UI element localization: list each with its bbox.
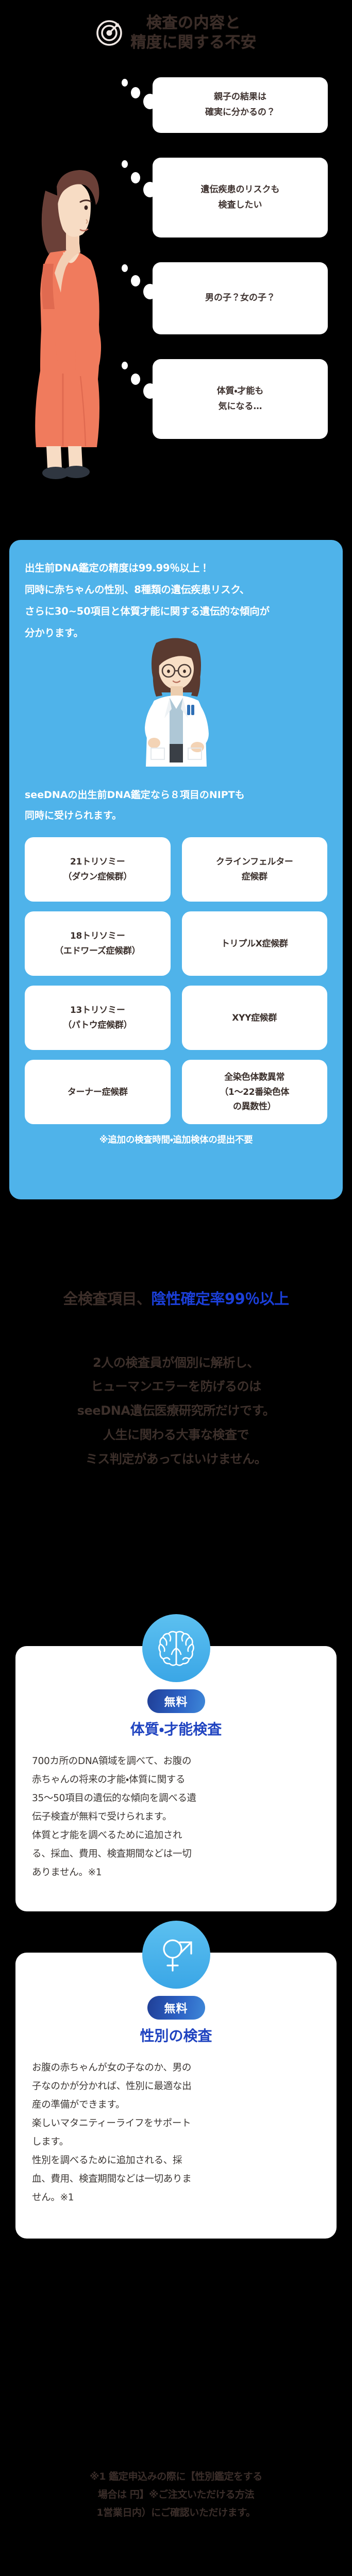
- accuracy-headline-highlight: 陰性確定率99％以上: [151, 1290, 289, 1308]
- page-root: 検査の内容と 精度に関する不安: [0, 0, 352, 2576]
- footer-line1: ※1 鑑定申込みの際に【性別鑑定をする: [15, 2468, 337, 2486]
- card1-body-line2: 赤ちゃんの将来の才能・体質に関する: [32, 1771, 320, 1789]
- nipt-item: 全染色体数異常（1〜22番染色体の異数性）: [182, 1060, 328, 1124]
- page-title: 検査の内容と 精度に関する不安: [131, 13, 257, 53]
- nipt-item: XYY症候群: [182, 986, 328, 1050]
- gender-icon-circle: [142, 1921, 210, 1989]
- bubble-dot-medium: [131, 87, 140, 98]
- bubble-dot-large: [143, 284, 157, 299]
- accuracy-body-line5: ミス判定があってはいけません。: [18, 1447, 334, 1471]
- nipt-info-panel: 出生前DNA鑑定の精度は99.99％以上！ 同時に赤ちゃんの性別、8種類の遺伝疾…: [9, 540, 343, 1199]
- nipt-sub-line1: seeDNAの出生前DNA鑑定なら８項目のNIPTも: [25, 785, 327, 806]
- thought-bubble-4: 体質・才能も 気になる…: [153, 359, 328, 439]
- bubble-dot-medium: [131, 172, 140, 183]
- card1-body-line1: 700カ所のDNA領域を調べて、お腹の: [32, 1752, 320, 1771]
- accuracy-body-line4: 人生に関わる大事な検査で: [18, 1423, 334, 1447]
- bubble-dot-large: [143, 182, 157, 197]
- accuracy-headline: 全検査項目、陰性確定率99％以上: [18, 1288, 334, 1311]
- bubble-4-line1: 体質・才能も: [217, 386, 264, 396]
- card2-body-line2: 子なのかが分かれば、性別に最適な出: [32, 2077, 320, 2096]
- nipt-footnote: ※追加の検査時間・追加検体の提出不要: [25, 1133, 327, 1146]
- nipt-lead-line2: 同時に赤ちゃんの性別、8種類の遺伝疾患リスク、: [25, 579, 327, 601]
- doctor-illustration: [122, 632, 230, 781]
- page-title-line1: 検査の内容と: [131, 13, 257, 33]
- nipt-item-label: ターナー症候群: [68, 1085, 128, 1100]
- thought-bubble-1-text: 親子の結果は 確実に分かるの？: [205, 90, 275, 121]
- nipt-item-label: トリプルX症候群: [221, 937, 288, 952]
- card1-body-line4: 伝子検査が無料で受けられます。: [32, 1808, 320, 1826]
- bubble-dot-large: [143, 94, 157, 109]
- nipt-item: 13トリソミー（パトウ症候群）: [25, 986, 171, 1050]
- card2-body-line5: します。: [32, 2133, 320, 2151]
- nipt-item: トリプルX症候群: [182, 911, 328, 976]
- bubble-3-line1: 男の子？女の子？: [205, 293, 275, 303]
- accuracy-body-line2: ヒューマンエラーを防げるのは: [18, 1375, 334, 1399]
- card1-body-line5: 体質と才能を調べるために追加され: [32, 1826, 320, 1845]
- section-accuracy: 全検査項目、陰性確定率99％以上 2人の検査員が個別に解析し、 ヒューマンエラー…: [0, 1288, 352, 1471]
- bubble-1-line1: 親子の結果は: [214, 92, 266, 102]
- card2-body-line8: せん。※1: [32, 2189, 320, 2207]
- thought-bubble-3-text: 男の子？女の子？: [205, 291, 275, 306]
- bubble-2-line1: 遺伝疾患のリスクも: [201, 184, 280, 195]
- accuracy-body-line3: seeDNA遺伝医療研究所だけです。: [18, 1399, 334, 1423]
- thought-bubble-4-text: 体質・才能も 気になる…: [217, 384, 264, 415]
- nipt-item-label: クラインフェルター症候群: [216, 855, 293, 885]
- bubble-dot-small: [122, 160, 128, 168]
- feature-card-body: 700カ所のDNA領域を調べて、お腹の 赤ちゃんの将来の才能・体質に関する 35…: [32, 1752, 320, 1882]
- thought-bubble-2: 遺伝疾患のリスクも 検査したい: [153, 158, 328, 238]
- brain-icon: [156, 1628, 196, 1669]
- feature-card-title: 性別の検査: [32, 2025, 320, 2045]
- card2-body-line4: 楽しいマタニティーライフをサポート: [32, 2114, 320, 2133]
- bubble-1-line2: 確実に分かるの？: [205, 107, 275, 117]
- nipt-item-grid: 21トリソミー（ダウン症候群） クラインフェルター症候群 18トリソミー（エドワ…: [25, 837, 327, 1124]
- card2-body-line7: 血、費用、検査期間などは一切ありま: [32, 2170, 320, 2189]
- footer-line3: 1営業日内）にご確認いただけます。: [15, 2504, 337, 2522]
- bubble-dot-large: [143, 383, 157, 399]
- nipt-item-label: XYY症候群: [232, 1011, 277, 1026]
- free-badge: 無料: [147, 1689, 205, 1713]
- card1-body-line3: 35〜50項目の遺伝的な傾向を調べる遺: [32, 1789, 320, 1808]
- bubble-2-line2: 検査したい: [219, 200, 262, 210]
- section-hero: 親子の結果は 確実に分かるの？ 遺伝疾患のリスクも 検査したい 男の子？女の子？: [0, 62, 352, 515]
- target-icon: [96, 20, 123, 46]
- nipt-item: クラインフェルター症候群: [182, 837, 328, 902]
- nipt-lead-text: 出生前DNA鑑定の精度は99.99％以上！ 同時に赤ちゃんの性別、8種類の遺伝疾…: [25, 557, 327, 644]
- nipt-sub-text: seeDNAの出生前DNA鑑定なら８項目のNIPTも 同時に受けられます。: [25, 785, 327, 826]
- thought-bubble-list: 親子の結果は 確実に分かるの？ 遺伝疾患のリスクも 検査したい 男の子？女の子？: [153, 77, 328, 464]
- nipt-item-label: 全染色体数異常（1〜22番染色体の異数性）: [220, 1070, 289, 1115]
- card2-body-line6: 性別を調べるために追加される、採: [32, 2151, 320, 2170]
- free-badge: 無料: [147, 1996, 205, 2020]
- card2-body-line3: 産の準備ができます。: [32, 2096, 320, 2114]
- card2-body-line1: お腹の赤ちゃんが女の子なのか、男の: [32, 2059, 320, 2077]
- accuracy-headline-plain: 全検査項目、: [63, 1290, 151, 1308]
- bubble-dot-medium: [131, 275, 140, 286]
- bubble-dot-small: [122, 79, 128, 87]
- nipt-lead-line1: 出生前DNA鑑定の精度は99.99％以上！: [25, 557, 327, 579]
- pregnant-woman-illustration: [19, 155, 122, 484]
- bubble-dot-small: [122, 362, 128, 369]
- nipt-item-label: 21トリソミー（ダウン症候群）: [63, 855, 132, 885]
- nipt-item-label: 18トリソミー（エドワーズ症候群）: [55, 929, 140, 959]
- bubble-dot-small: [122, 264, 128, 272]
- thought-bubble-1: 親子の結果は 確実に分かるの？: [153, 77, 328, 133]
- doctor-illustration-wrap: [25, 632, 327, 781]
- card1-body-line7: ありません。※1: [32, 1863, 320, 1882]
- nipt-sub-line2: 同時に受けられます。: [25, 806, 327, 826]
- accuracy-body: 2人の検査員が個別に解析し、 ヒューマンエラーを防げるのは seeDNA遺伝医療…: [18, 1351, 334, 1471]
- feature-card-gender: 無料 性別の検査 お腹の赤ちゃんが女の子なのか、男の 子なのかが分かれば、性別に…: [15, 1953, 337, 2239]
- bubble-dot-medium: [131, 374, 140, 385]
- thought-bubble-2-text: 遺伝疾患のリスクも 検査したい: [201, 182, 280, 213]
- nipt-lead-line3: さらに30~50項目と体質才能に関する遺伝的な傾向が: [25, 601, 327, 622]
- nipt-item: 21トリソミー（ダウン症候群）: [25, 837, 171, 902]
- feature-card-title: 体質・才能検査: [32, 1718, 320, 1739]
- feature-card-trait-talent: 無料 体質・才能検査 700カ所のDNA領域を調べて、お腹の 赤ちゃんの将来の才…: [15, 1646, 337, 1911]
- footer-disclaimer: ※1 鑑定申込みの際に【性別鑑定をする 場合は 円】※ご注文いただける方法 1営…: [0, 2468, 352, 2522]
- section-header: 検査の内容と 精度に関する不安: [0, 0, 352, 62]
- nipt-item: 18トリソミー（エドワーズ症候群）: [25, 911, 171, 976]
- bubble-4-line2: 気になる…: [219, 401, 262, 412]
- brain-icon-circle: [142, 1614, 210, 1682]
- nipt-item-label: 13トリソミー（パトウ症候群）: [63, 1003, 132, 1033]
- card1-body-line6: る、採血、費用、検査期間などは一切: [32, 1845, 320, 1863]
- thought-bubble-3: 男の子？女の子？: [153, 262, 328, 334]
- gender-icon: [157, 1934, 195, 1976]
- page-title-line2: 精度に関する不安: [131, 33, 257, 53]
- nipt-item: ターナー症候群: [25, 1060, 171, 1124]
- feature-card-body: お腹の赤ちゃんが女の子なのか、男の 子なのかが分かれば、性別に最適な出 産の準備…: [32, 2059, 320, 2208]
- accuracy-body-line1: 2人の検査員が個別に解析し、: [18, 1351, 334, 1375]
- footer-line2: 場合は 円】※ご注文いただける方法: [15, 2486, 337, 2504]
